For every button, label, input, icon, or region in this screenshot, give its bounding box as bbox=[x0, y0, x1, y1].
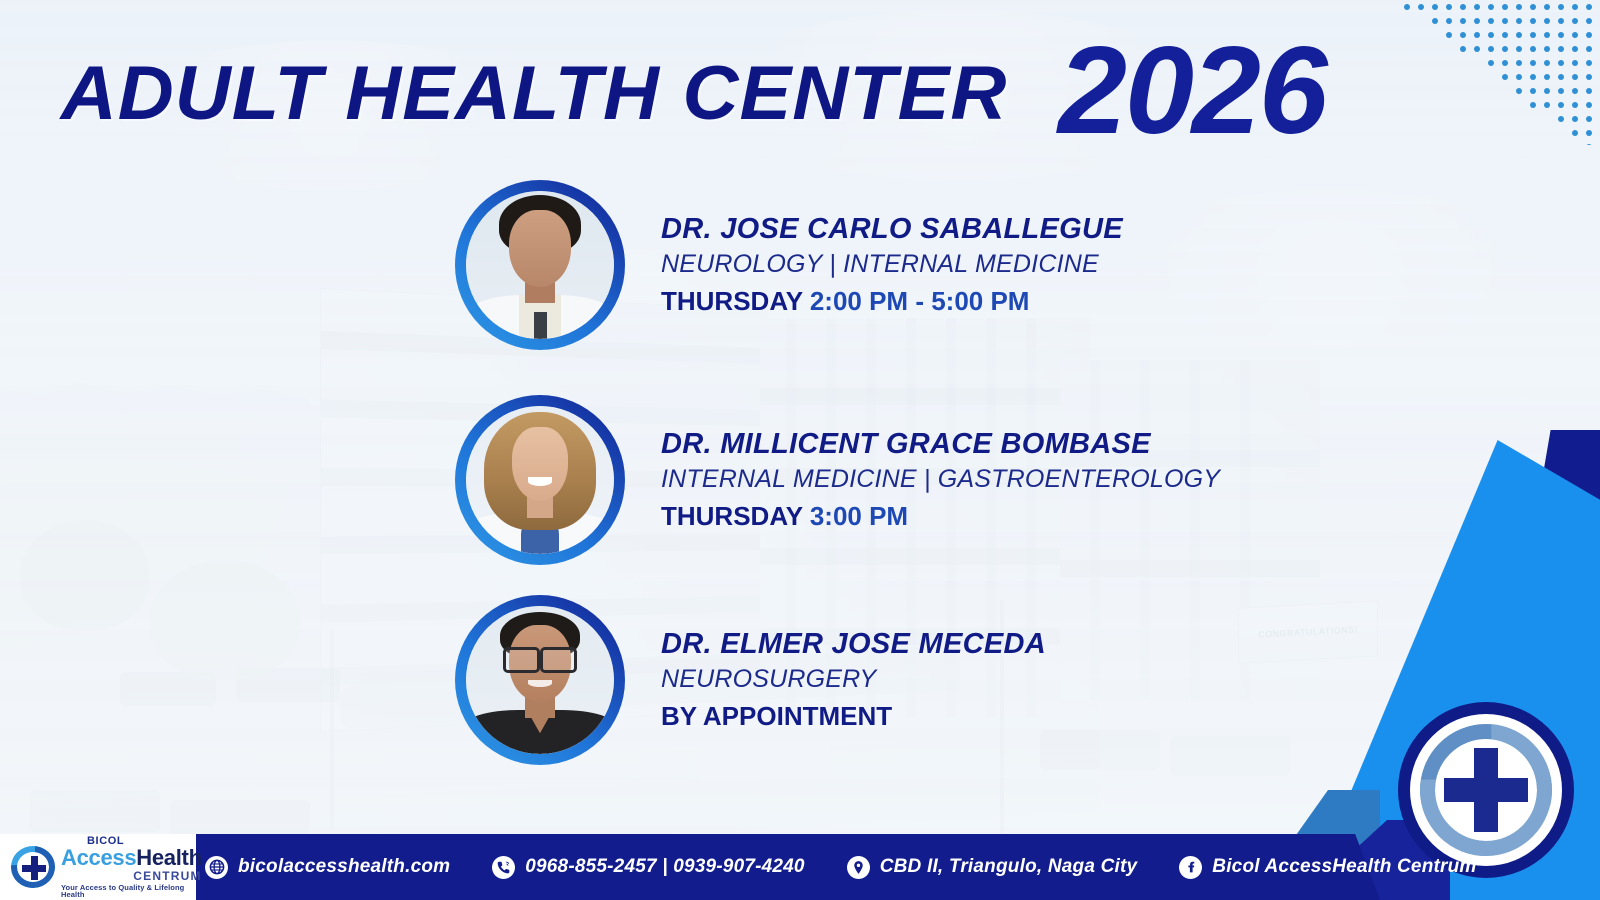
dot bbox=[1572, 60, 1578, 66]
dot bbox=[1586, 88, 1592, 94]
dot bbox=[1558, 88, 1564, 94]
contact-bar: bicolaccesshealth.com 0968-855-2457 | 09… bbox=[205, 834, 1519, 900]
dot bbox=[1572, 4, 1578, 10]
dot bbox=[1572, 130, 1578, 136]
schedule-time: 2:00 PM - 5:00 PM bbox=[810, 286, 1030, 316]
location-text: CBD II, Triangulo, Naga City bbox=[880, 856, 1138, 878]
dot bbox=[1530, 4, 1536, 10]
dot bbox=[1502, 46, 1508, 52]
dot bbox=[1544, 60, 1550, 66]
dot bbox=[1488, 60, 1494, 66]
dot bbox=[1558, 32, 1564, 38]
dot bbox=[1586, 32, 1592, 38]
year-label: 2026 bbox=[1058, 20, 1326, 162]
logo-health-text: Health bbox=[136, 845, 201, 870]
dot bbox=[1558, 60, 1564, 66]
dot bbox=[1418, 4, 1424, 10]
eyeglasses-icon bbox=[503, 647, 577, 666]
phone-icon bbox=[492, 856, 515, 879]
dot bbox=[1586, 60, 1592, 66]
dot bbox=[1516, 46, 1522, 52]
dot bbox=[1586, 18, 1592, 24]
dot bbox=[1488, 18, 1494, 24]
footer: BICOL AccessHealth CENTRUM Your Access t… bbox=[0, 834, 1600, 900]
schedule-time: 3:00 PM bbox=[810, 501, 908, 531]
dot bbox=[1586, 102, 1592, 108]
dot bbox=[1586, 144, 1592, 145]
dot bbox=[1404, 4, 1410, 10]
dot bbox=[1516, 4, 1522, 10]
dot bbox=[1530, 74, 1536, 80]
dot bbox=[1558, 4, 1564, 10]
brand-logo[interactable]: BICOL AccessHealth CENTRUM Your Access t… bbox=[0, 834, 196, 900]
dot bbox=[1488, 32, 1494, 38]
dot bbox=[1502, 32, 1508, 38]
dot bbox=[1460, 4, 1466, 10]
avatar bbox=[455, 180, 625, 350]
avatar-photo-frame bbox=[466, 606, 614, 754]
dot bbox=[1530, 102, 1536, 108]
dot bbox=[1502, 74, 1508, 80]
doctor-specialty: NEUROSURGERY bbox=[661, 663, 1046, 696]
schedule-day: THURSDAY bbox=[661, 501, 803, 531]
dot bbox=[1474, 32, 1480, 38]
dot bbox=[1544, 18, 1550, 24]
dot bbox=[1586, 116, 1592, 122]
dot bbox=[1530, 18, 1536, 24]
dot bbox=[1502, 18, 1508, 24]
dot bbox=[1558, 18, 1564, 24]
dot bbox=[1572, 46, 1578, 52]
doctor-portrait-female-white-coat bbox=[466, 406, 614, 554]
dot bbox=[1474, 46, 1480, 52]
doctor-specialty: NEUROLOGY | INTERNAL MEDICINE bbox=[661, 248, 1123, 281]
dot bbox=[1544, 102, 1550, 108]
dot bbox=[1460, 46, 1466, 52]
cross-icon bbox=[22, 856, 46, 880]
poster-canvas: CONGRATULATIONS! ADULT HEALTH CENTER 202… bbox=[0, 0, 1600, 900]
page-title: ADULT HEALTH CENTER bbox=[61, 50, 1008, 137]
dot bbox=[1488, 46, 1494, 52]
dot bbox=[1502, 4, 1508, 10]
schedule-day: THURSDAY bbox=[661, 286, 803, 316]
dot bbox=[1530, 32, 1536, 38]
dot bbox=[1516, 60, 1522, 66]
contact-phone[interactable]: 0968-855-2457 | 0939-907-4240 bbox=[492, 856, 804, 879]
dot bbox=[1530, 46, 1536, 52]
doctor-schedule: BY APPOINTMENT bbox=[661, 701, 1046, 732]
dot bbox=[1530, 60, 1536, 66]
avatar-photo-frame bbox=[466, 406, 614, 554]
facebook-icon bbox=[1179, 856, 1202, 879]
dot bbox=[1432, 4, 1438, 10]
dot bbox=[1572, 74, 1578, 80]
location-pin-icon bbox=[847, 856, 870, 879]
doctor-name: DR. ELMER JOSE MECEDA bbox=[661, 628, 1046, 662]
dot bbox=[1474, 4, 1480, 10]
avatar bbox=[455, 595, 625, 765]
dot bbox=[1558, 74, 1564, 80]
dot bbox=[1586, 74, 1592, 80]
contact-website[interactable]: bicolaccesshealth.com bbox=[205, 856, 450, 879]
contact-location[interactable]: CBD II, Triangulo, Naga City bbox=[847, 856, 1138, 879]
facebook-text: Bicol AccessHealth Centrum bbox=[1212, 856, 1476, 878]
dot bbox=[1516, 74, 1522, 80]
doctor-name: DR. MILLICENT GRACE BOMBASE bbox=[661, 428, 1220, 462]
dot bbox=[1572, 18, 1578, 24]
dot bbox=[1544, 74, 1550, 80]
dot bbox=[1516, 88, 1522, 94]
dot bbox=[1558, 102, 1564, 108]
dot bbox=[1572, 102, 1578, 108]
dot bbox=[1544, 32, 1550, 38]
dot bbox=[1544, 46, 1550, 52]
doctor-card[interactable]: DR. JOSE CARLO SABALLEGUE NEUROLOGY | IN… bbox=[0, 180, 1100, 350]
doctor-portrait-male-glasses-scrubs bbox=[466, 606, 614, 754]
dot bbox=[1502, 60, 1508, 66]
dot bbox=[1516, 18, 1522, 24]
header: ADULT HEALTH CENTER 2026 bbox=[0, 38, 1460, 153]
dot bbox=[1544, 4, 1550, 10]
dot bbox=[1446, 4, 1452, 10]
doctor-schedule: THURSDAY 3:00 PM bbox=[661, 501, 1220, 532]
dot bbox=[1460, 18, 1466, 24]
website-text: bicolaccesshealth.com bbox=[238, 856, 450, 878]
dot bbox=[1572, 32, 1578, 38]
globe-icon bbox=[205, 856, 228, 879]
dot bbox=[1488, 4, 1494, 10]
dot bbox=[1446, 18, 1452, 24]
phone-text: 0968-855-2457 | 0939-907-4240 bbox=[525, 856, 804, 878]
doctor-card[interactable]: DR. ELMER JOSE MECEDA NEUROSURGERY BY AP… bbox=[0, 595, 1100, 765]
medical-cross-swoosh-icon bbox=[10, 843, 58, 891]
logo-tagline: Your Access to Quality & Lifelong Health bbox=[61, 884, 202, 899]
dot bbox=[1558, 46, 1564, 52]
doctor-card[interactable]: DR. MILLICENT GRACE BOMBASE INTERNAL MED… bbox=[0, 395, 1100, 565]
doctor-portrait-male-white-coat bbox=[466, 191, 614, 339]
avatar-photo-frame bbox=[466, 191, 614, 339]
doctor-info: DR. ELMER JOSE MECEDA NEUROSURGERY BY AP… bbox=[661, 628, 1046, 732]
doctor-schedule: THURSDAY 2:00 PM - 5:00 PM bbox=[661, 286, 1123, 317]
dot bbox=[1460, 32, 1466, 38]
schedule-day: BY APPOINTMENT bbox=[661, 701, 892, 731]
dot bbox=[1572, 116, 1578, 122]
dot bbox=[1530, 88, 1536, 94]
doctor-info: DR. JOSE CARLO SABALLEGUE NEUROLOGY | IN… bbox=[661, 213, 1123, 317]
logo-access-text: Access bbox=[61, 845, 136, 870]
avatar bbox=[455, 395, 625, 565]
dot bbox=[1544, 88, 1550, 94]
logo-centrum-text: CENTRUM bbox=[61, 870, 202, 882]
dot bbox=[1586, 130, 1592, 136]
dot bbox=[1516, 32, 1522, 38]
dot bbox=[1558, 116, 1564, 122]
dot bbox=[1474, 18, 1480, 24]
dot bbox=[1432, 18, 1438, 24]
doctor-info: DR. MILLICENT GRACE BOMBASE INTERNAL MED… bbox=[661, 428, 1220, 532]
doctor-name: DR. JOSE CARLO SABALLEGUE bbox=[661, 213, 1123, 247]
doctor-specialty: INTERNAL MEDICINE | GASTROENTEROLOGY bbox=[661, 463, 1220, 496]
cross-icon bbox=[1444, 748, 1528, 832]
contact-facebook[interactable]: Bicol AccessHealth Centrum bbox=[1179, 856, 1476, 879]
dot bbox=[1586, 4, 1592, 10]
dot bbox=[1586, 46, 1592, 52]
dot bbox=[1572, 88, 1578, 94]
